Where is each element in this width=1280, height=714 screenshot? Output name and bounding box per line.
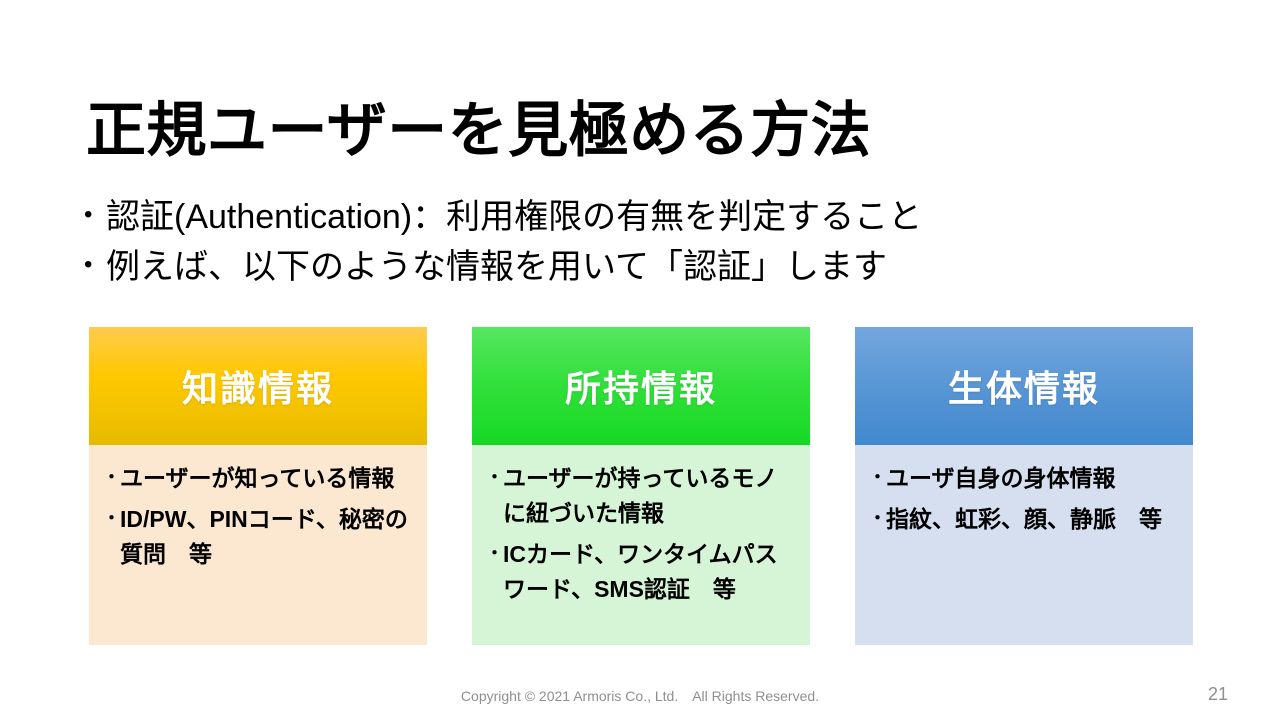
page-title: 正規ユーザーを見極める方法 bbox=[86, 96, 871, 167]
bullet-dot-icon: ・ bbox=[486, 537, 503, 572]
list-item-label: 指紋、虹彩、顔、静脈 等 bbox=[886, 502, 1179, 537]
card-biometric-header: 生体情報 bbox=[855, 327, 1193, 445]
list-item: ・ ICカード、ワンタイムパスワード、SMS認証 等 bbox=[486, 537, 796, 607]
slide-canvas: 正規ユーザーを見極める方法 • 認証(Authentication)：利用権限の… bbox=[0, 0, 1280, 714]
bullet-dot-icon: ・ bbox=[103, 461, 120, 496]
card-possession-header: 所持情報 bbox=[472, 327, 810, 445]
page-number: 21 bbox=[1208, 684, 1228, 705]
list-item-label: ID/PW、PINコード、秘密の質問 等 bbox=[120, 502, 413, 572]
auth-factor-cards: 知識情報 ・ ユーザーが知っている情報 ・ ID/PW、PINコード、秘密の質問… bbox=[89, 327, 1193, 645]
list-item-label: ユーザ自身の身体情報 bbox=[886, 461, 1179, 496]
card-knowledge: 知識情報 ・ ユーザーが知っている情報 ・ ID/PW、PINコード、秘密の質問… bbox=[89, 327, 427, 645]
bullet-item-authentication: • 認証(Authentication)：利用権限の有無を判定すること bbox=[84, 192, 1184, 242]
card-knowledge-header: 知識情報 bbox=[89, 327, 427, 445]
card-possession-body: ・ ユーザーが持っているモノに紐づいた情報 ・ ICカード、ワンタイムパスワード… bbox=[472, 445, 810, 645]
card-possession: 所持情報 ・ ユーザーが持っているモノに紐づいた情報 ・ ICカード、ワンタイム… bbox=[472, 327, 810, 645]
bullet-list: • 認証(Authentication)：利用権限の有無を判定すること • 例え… bbox=[84, 192, 1184, 293]
list-item: ・ ID/PW、PINコード、秘密の質問 等 bbox=[103, 502, 413, 572]
card-biometric-body: ・ ユーザ自身の身体情報 ・ 指紋、虹彩、顔、静脈 等 bbox=[855, 445, 1193, 645]
list-item: ・ ユーザーが持っているモノに紐づいた情報 bbox=[486, 461, 796, 531]
footer-copyright: Copyright © 2021 Armoris Co., Ltd. All R… bbox=[0, 686, 1280, 706]
list-item-label: ユーザーが持っているモノに紐づいた情報 bbox=[503, 461, 796, 531]
card-knowledge-body: ・ ユーザーが知っている情報 ・ ID/PW、PINコード、秘密の質問 等 bbox=[89, 445, 427, 645]
card-biometric: 生体情報 ・ ユーザ自身の身体情報 ・ 指紋、虹彩、顔、静脈 等 bbox=[855, 327, 1193, 645]
bullet-dot-icon: ・ bbox=[486, 461, 503, 496]
bullet-text: 例えば、以下のような情報を用いて「認証」します bbox=[106, 242, 887, 292]
bullet-item-example: • 例えば、以下のような情報を用いて「認証」します bbox=[84, 242, 1184, 292]
list-item: ・ 指紋、虹彩、顔、静脈 等 bbox=[869, 502, 1179, 537]
list-item: ・ ユーザーが知っている情報 bbox=[103, 461, 413, 496]
list-item: ・ ユーザ自身の身体情報 bbox=[869, 461, 1179, 496]
bullet-dot-icon: ・ bbox=[869, 461, 886, 496]
bullet-dot-icon: ・ bbox=[869, 502, 886, 537]
bullet-dot-icon: • bbox=[84, 242, 106, 288]
bullet-dot-icon: • bbox=[84, 192, 106, 238]
bullet-text: 認証(Authentication)：利用権限の有無を判定すること bbox=[106, 192, 922, 242]
bullet-dot-icon: ・ bbox=[103, 502, 120, 537]
list-item-label: ユーザーが知っている情報 bbox=[120, 461, 413, 496]
list-item-label: ICカード、ワンタイムパスワード、SMS認証 等 bbox=[503, 537, 796, 607]
